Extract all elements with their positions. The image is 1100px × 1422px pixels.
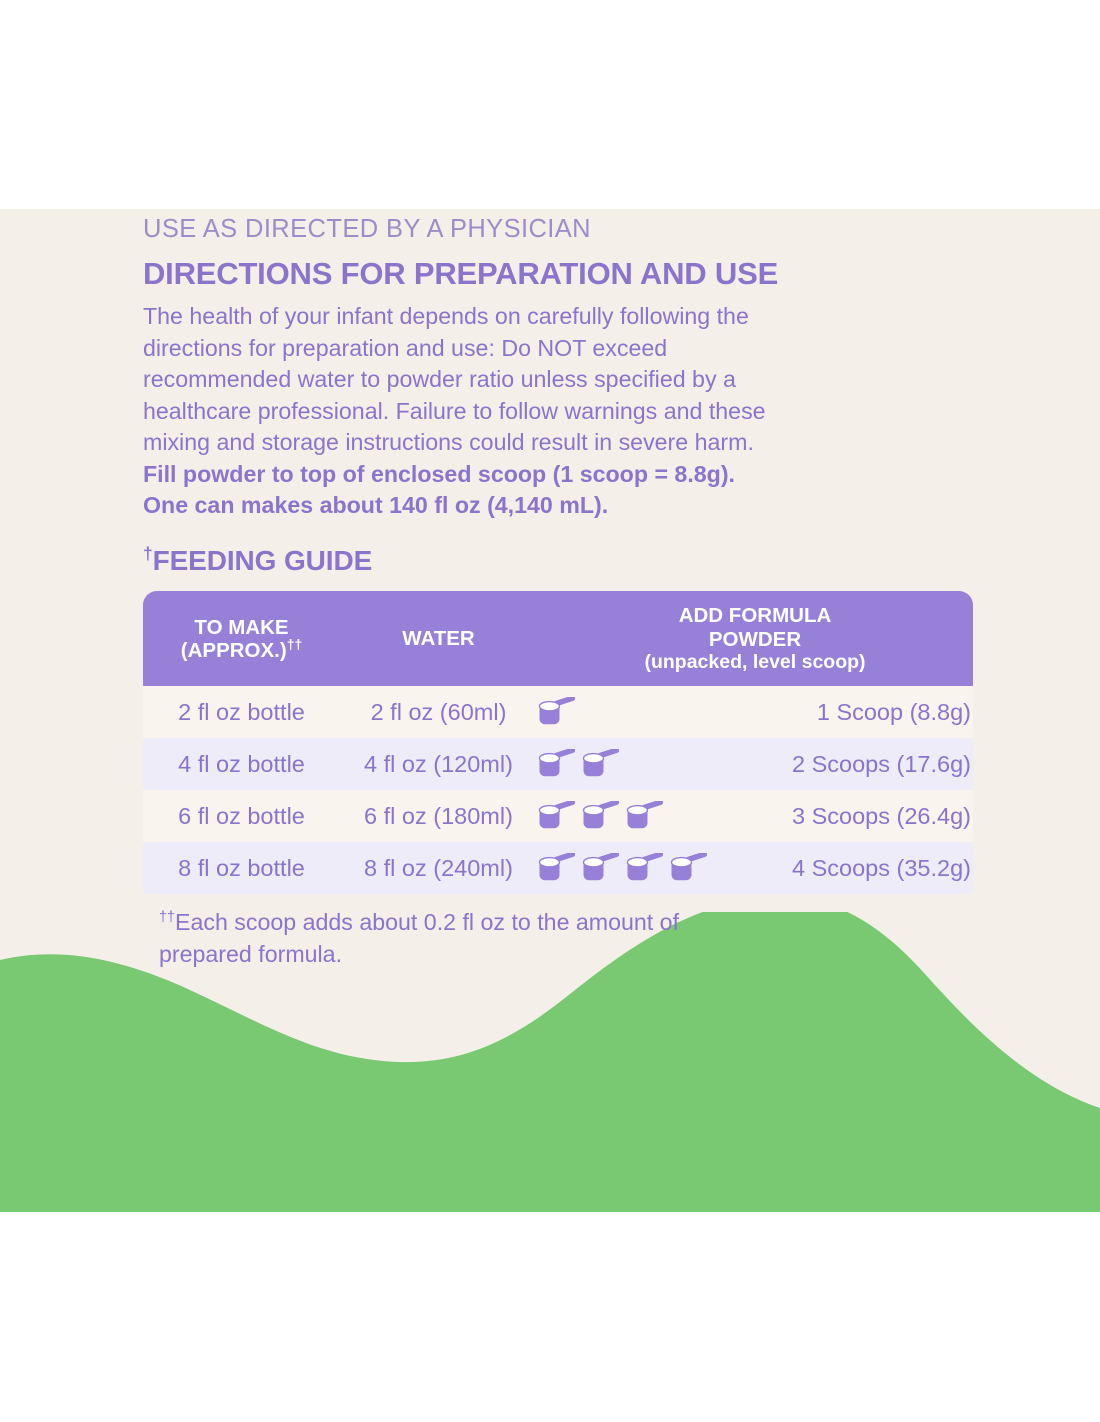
paragraph-line: healthcare professional. Failure to foll… xyxy=(143,396,973,428)
scoop-icon xyxy=(537,749,579,779)
scoop-icon-group xyxy=(537,697,579,727)
scoop-icon xyxy=(669,853,711,883)
powder-line-1: ADD FORMULA xyxy=(679,604,832,627)
scoop-icon xyxy=(581,801,623,831)
cell-powder: 3 Scoops (26.4g) xyxy=(537,790,973,842)
footnote-line: Each scoop adds about 0.2 fl oz to the a… xyxy=(175,909,679,935)
label-page: USE AS DIRECTED BY A PHYSICIAN DIRECTION… xyxy=(0,0,1100,1422)
paragraph-line-bold: One can makes about 140 fl oz (4,140 mL)… xyxy=(143,490,973,522)
footnote-line: prepared formula. xyxy=(159,939,959,971)
paragraph-line: mixing and storage instructions could re… xyxy=(143,427,973,459)
directions-panel: USE AS DIRECTED BY A PHYSICIAN DIRECTION… xyxy=(0,209,1100,1212)
scoop-icon xyxy=(537,853,579,883)
feeding-guide-table: TO MAKE (APPROX.)†† WATER ADD FORMULA PO… xyxy=(143,591,973,894)
page-title: DIRECTIONS FOR PREPARATION AND USE xyxy=(143,246,983,292)
cell-to-make: 8 fl oz bottle xyxy=(143,842,340,894)
table-row: 2 fl oz bottle 2 fl oz (60ml) xyxy=(143,686,973,738)
cell-water: 6 fl oz (180ml) xyxy=(340,790,537,842)
to-make-line-1: TO MAKE xyxy=(194,616,288,639)
column-header-to-make: TO MAKE (APPROX.)†† xyxy=(143,591,340,686)
cell-powder: 1 Scoop (8.8g) xyxy=(537,686,973,738)
table-header: TO MAKE (APPROX.)†† WATER ADD FORMULA PO… xyxy=(143,591,973,686)
feeding-guide-heading: †FEEDING GUIDE xyxy=(143,522,983,578)
table-body: 2 fl oz bottle 2 fl oz (60ml) xyxy=(143,686,973,894)
cell-to-make: 4 fl oz bottle xyxy=(143,738,340,790)
table-row: 4 fl oz bottle 4 fl oz (120ml) xyxy=(143,738,973,790)
powder-label: 4 Scoops (35.2g) xyxy=(792,855,973,882)
column-header-water: WATER xyxy=(340,591,537,686)
table-row: 6 fl oz bottle 6 fl oz (180ml) xyxy=(143,790,973,842)
cell-water: 4 fl oz (120ml) xyxy=(340,738,537,790)
powder-label: 3 Scoops (26.4g) xyxy=(792,803,973,830)
paragraph-line: recommended water to powder ratio unless… xyxy=(143,364,973,396)
scoop-icon xyxy=(581,749,623,779)
to-make-line-2: (APPROX.) xyxy=(181,639,287,662)
scoop-icon xyxy=(625,801,667,831)
column-header-add-formula-powder: ADD FORMULA POWDER (unpacked, level scoo… xyxy=(537,591,973,686)
footnote-marker: †† xyxy=(159,910,175,926)
paragraph-line: directions for preparation and use: Do N… xyxy=(143,333,973,365)
scoop-icon xyxy=(537,697,579,727)
cell-powder: 4 Scoops (35.2g) xyxy=(537,842,973,894)
scoop-icon xyxy=(581,853,623,883)
cell-to-make: 2 fl oz bottle xyxy=(143,686,340,738)
paragraph-line-bold: Fill powder to top of enclosed scoop (1 … xyxy=(143,459,973,491)
scoop-icon-group xyxy=(537,801,667,831)
feeding-guide-dagger: † xyxy=(143,544,153,564)
cell-water: 2 fl oz (60ml) xyxy=(340,686,537,738)
table-header-row: TO MAKE (APPROX.)†† WATER ADD FORMULA PO… xyxy=(143,591,973,686)
feeding-guide-heading-label: FEEDING GUIDE xyxy=(153,545,373,576)
scoop-icon xyxy=(537,801,579,831)
paragraph-line: The health of your infant depends on car… xyxy=(143,301,973,333)
powder-line-3: (unpacked, level scoop) xyxy=(541,651,969,673)
eyebrow-text: USE AS DIRECTED BY A PHYSICIAN xyxy=(143,209,983,246)
powder-label: 2 Scoops (17.6g) xyxy=(792,751,973,778)
cell-water: 8 fl oz (240ml) xyxy=(340,842,537,894)
cell-powder: 2 Scoops (17.6g) xyxy=(537,738,973,790)
scoop-icon-group xyxy=(537,749,623,779)
table-row: 8 fl oz bottle 8 fl oz (240ml) xyxy=(143,842,973,894)
to-make-footnote-marker: †† xyxy=(287,636,303,652)
powder-line-2: POWDER xyxy=(709,628,801,651)
powder-label: 1 Scoop (8.8g) xyxy=(817,699,973,726)
cell-to-make: 6 fl oz bottle xyxy=(143,790,340,842)
feeding-guide-footnote: ††Each scoop adds about 0.2 fl oz to the… xyxy=(143,894,959,970)
directions-content: USE AS DIRECTED BY A PHYSICIAN DIRECTION… xyxy=(143,209,983,971)
scoop-icon xyxy=(625,853,667,883)
scoop-icon-group xyxy=(537,853,711,883)
directions-paragraph: The health of your infant depends on car… xyxy=(143,292,973,522)
